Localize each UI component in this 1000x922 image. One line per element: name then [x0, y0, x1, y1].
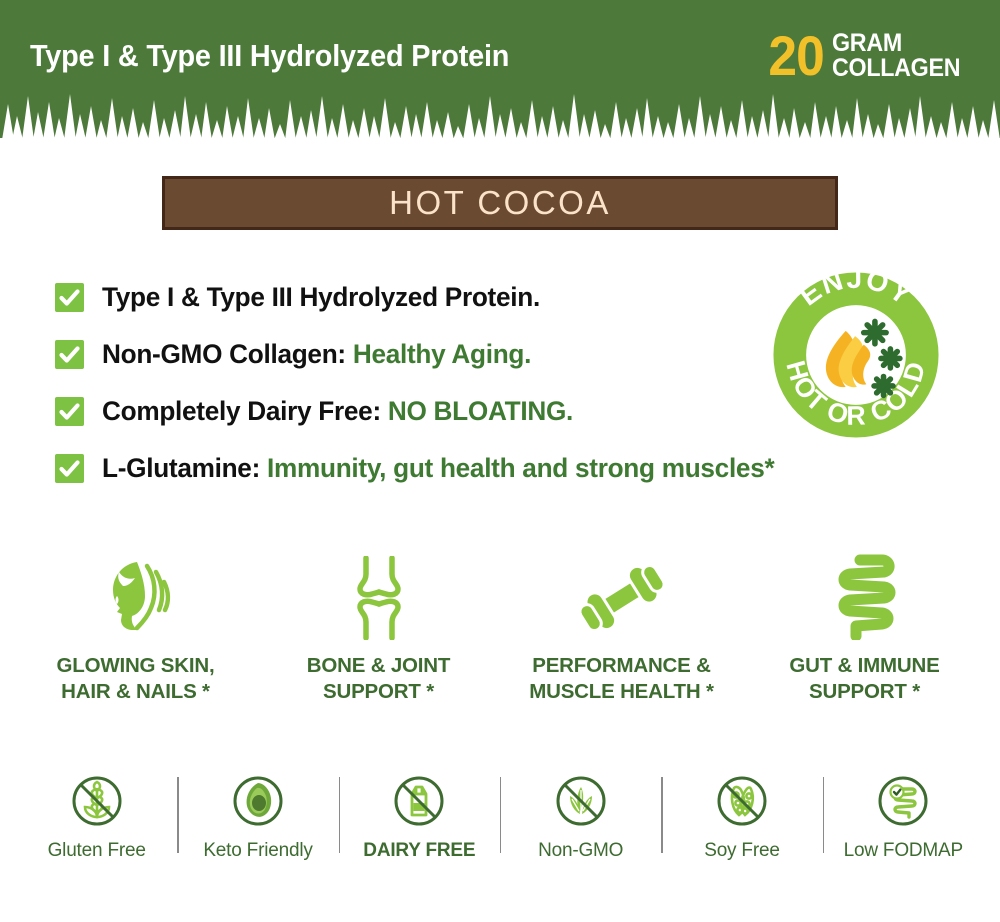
wheat-slash-icon — [69, 771, 125, 831]
soy-pod-slash-icon — [714, 771, 770, 831]
features-section: Type I & Type III Hydrolyzed Protein. No… — [0, 282, 1000, 484]
collagen-amount: 20 — [768, 30, 823, 82]
header-band: Type I & Type III Hydrolyzed Protein 20 … — [0, 0, 1000, 152]
leaves-slash-icon — [553, 771, 609, 831]
benefit-item: GLOWING SKIN, HAIR & NAILS * — [14, 554, 257, 705]
feature-text: Non-GMO Collagen: Healthy Aging. — [102, 339, 531, 370]
grass-fringe-icon — [0, 88, 1000, 152]
enjoy-hot-or-cold-badge: ENJOY HOT OR COLD — [770, 269, 942, 441]
checkmark-icon — [55, 283, 84, 312]
cert-label: Gluten Free — [48, 840, 146, 862]
cert-label: Non-GMO — [538, 840, 623, 862]
dumbbell-icon — [574, 554, 670, 640]
benefits-row: GLOWING SKIN, HAIR & NAILS * BONE & JOIN… — [0, 554, 1000, 705]
list-item: L-Glutamine: Immunity, gut health and st… — [55, 453, 1000, 484]
cert-item: Gluten Free — [16, 771, 177, 862]
cert-label: Low FODMAP — [844, 840, 963, 862]
feature-accent: NO BLOATING. — [388, 396, 573, 426]
flavor-banner-wrap: HOT COCOA — [0, 176, 1000, 230]
checkmark-icon — [55, 340, 84, 369]
certifications-row: Gluten Free Keto Friendly — [0, 771, 1000, 862]
benefit-item: BONE & JOINT SUPPORT * — [257, 554, 500, 705]
collagen-word: COLLAGEN — [832, 56, 960, 81]
feature-main: Type I & Type III Hydrolyzed Protein. — [102, 282, 540, 312]
cert-label: Soy Free — [704, 840, 780, 862]
benefit-item: PERFORMANCE & MUSCLE HEALTH * — [500, 554, 743, 705]
feature-text: Type I & Type III Hydrolyzed Protein. — [102, 282, 540, 313]
benefit-label: GLOWING SKIN, HAIR & NAILS * — [57, 653, 215, 705]
benefit-label: GUT & IMMUNE SUPPORT * — [789, 653, 939, 705]
benefit-item: GUT & IMMUNE SUPPORT * — [743, 554, 986, 705]
cert-item: Keto Friendly — [177, 771, 338, 862]
feature-main: Non-GMO Collagen: — [102, 339, 353, 369]
intestine-icon — [830, 554, 900, 640]
flavor-banner: HOT COCOA — [162, 176, 838, 230]
collagen-unit-group: GRAM COLLAGEN — [832, 31, 960, 81]
intestine-check-icon — [875, 771, 931, 831]
benefit-label: BONE & JOINT SUPPORT * — [307, 653, 450, 705]
cert-label: Keto Friendly — [203, 840, 312, 862]
feature-main: L-Glutamine: — [102, 453, 267, 483]
feature-accent: Healthy Aging. — [353, 339, 531, 369]
cert-item: Non-GMO — [500, 771, 661, 862]
feature-main: Completely Dairy Free: — [102, 396, 388, 426]
benefit-label: PERFORMANCE & MUSCLE HEALTH * — [529, 653, 714, 705]
checkmark-icon — [55, 454, 84, 483]
cert-item: DAIRY FREE — [339, 771, 500, 862]
page-title: Type I & Type III Hydrolyzed Protein — [30, 38, 509, 74]
flavor-name: HOT COCOA — [389, 184, 611, 222]
cert-label: DAIRY FREE — [363, 840, 475, 862]
feature-text: Completely Dairy Free: NO BLOATING. — [102, 396, 573, 427]
woman-hair-icon — [93, 554, 179, 640]
collagen-unit: GRAM — [832, 31, 960, 56]
feature-text: L-Glutamine: Immunity, gut health and st… — [102, 453, 774, 484]
checkmark-icon — [55, 397, 84, 426]
cert-item: Low FODMAP — [823, 771, 984, 862]
collagen-callout: 20 GRAM COLLAGEN — [766, 30, 970, 82]
bone-joint-icon — [348, 554, 410, 640]
milk-carton-slash-icon — [391, 771, 447, 831]
feature-accent: Immunity, gut health and strong muscles* — [267, 453, 774, 483]
avocado-icon — [230, 771, 286, 831]
cert-item: Soy Free — [661, 771, 822, 862]
